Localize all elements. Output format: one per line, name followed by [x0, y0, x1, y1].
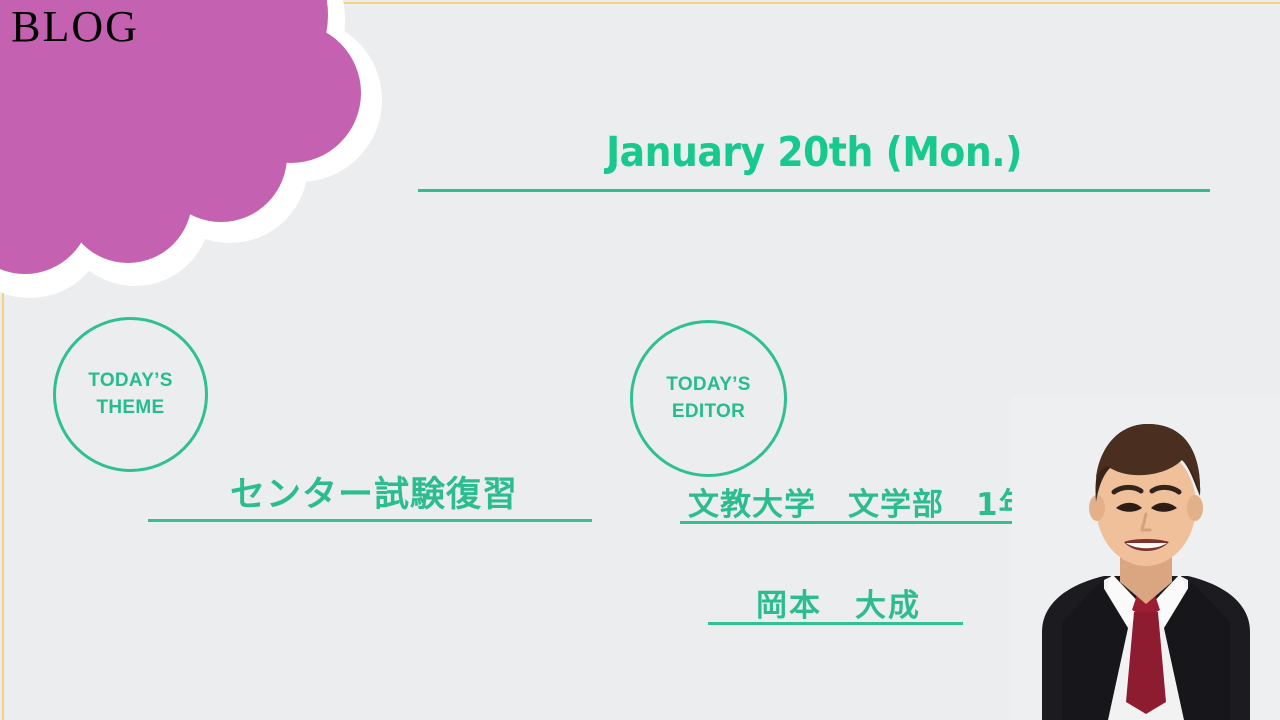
- logo-cloud-badge: TORIDE BLOG: [0, 0, 430, 320]
- editor-name: 岡本 大成: [756, 580, 921, 625]
- todays-theme-label-line1: TODAY’S: [88, 368, 172, 394]
- blog-header-slide: TORIDE BLOG January 20th (Mon.) TODAY’S …: [0, 0, 1280, 720]
- editor-name-underline: [708, 622, 963, 625]
- todays-editor-circle: TODAY’S EDITOR: [630, 320, 787, 477]
- todays-theme-underline: [148, 519, 592, 522]
- todays-editor-label-line1: TODAY’S: [666, 372, 750, 398]
- date-header: January 20th (Mon.): [418, 128, 1210, 192]
- date-underline: [418, 189, 1210, 192]
- todays-theme-circle: TODAY’S THEME: [53, 317, 208, 472]
- editor-affiliation: 文教大学 文学部 1年: [688, 479, 1031, 524]
- date-text: January 20th (Mon.): [450, 128, 1179, 176]
- todays-editor-label-line2: EDITOR: [672, 399, 745, 425]
- editor-portrait-photo: [1012, 396, 1280, 720]
- todays-theme-value: センター試験復習: [230, 466, 518, 517]
- todays-theme-label-line2: THEME: [97, 395, 165, 421]
